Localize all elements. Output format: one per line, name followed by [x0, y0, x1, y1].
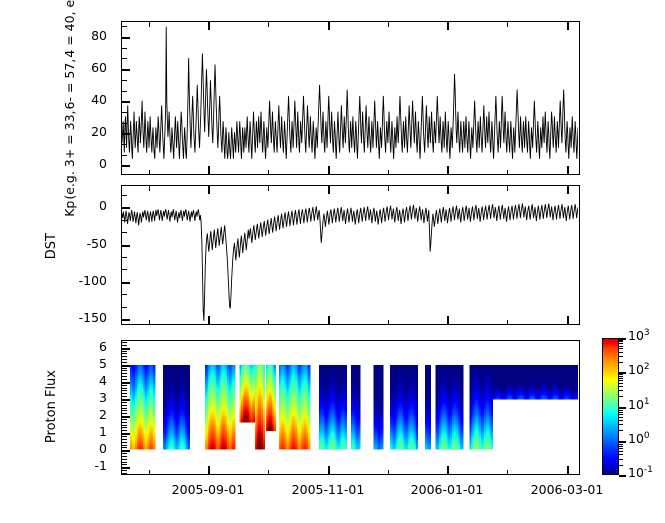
axis-tick: [567, 166, 569, 174]
axis-tick: [619, 380, 623, 381]
colorbar-tick-base: 10: [628, 465, 644, 480]
axis-tick: [619, 430, 623, 431]
axis-tick: [507, 22, 508, 27]
axis-tick: [268, 186, 269, 191]
axis-tick: [122, 362, 127, 363]
axis-tick: [619, 448, 623, 449]
axis-tick: [388, 186, 389, 191]
axis-tick: [208, 186, 210, 194]
axis-tick: [507, 170, 508, 175]
axis-tick: [122, 294, 127, 295]
axis-tick: [122, 307, 127, 308]
axis-tick: [122, 207, 130, 209]
axis-tick: [208, 166, 210, 174]
axis-tick: [122, 467, 130, 469]
axis-tick: [122, 365, 130, 367]
axis-tick: [619, 378, 623, 379]
axis-tick: [149, 22, 150, 27]
axis-tick: [619, 386, 623, 387]
axis-tick: [619, 362, 623, 363]
axis-tick: [447, 22, 449, 30]
axis-tick: [122, 419, 127, 420]
axis-tick: [122, 459, 127, 460]
axis-tick: [328, 466, 330, 474]
axis-tick: [388, 320, 389, 325]
colorbar-tick-exponent: 0: [644, 431, 650, 441]
axis-tick: [619, 446, 623, 447]
axis-tick: [122, 456, 127, 457]
colorbar-tick-base: 10: [628, 397, 644, 412]
colorbar-tick-base: 10: [628, 362, 644, 377]
colorbar: [602, 338, 619, 475]
axis-tick: [122, 376, 127, 377]
y-tick-label: 40: [0, 92, 107, 107]
axis-tick: [122, 453, 127, 454]
axis-tick: [619, 454, 623, 455]
axis-tick: [447, 166, 449, 174]
axis-tick: [122, 220, 127, 221]
axis-tick: [122, 450, 130, 452]
axis-tick: [122, 69, 130, 71]
axis-tick: [122, 379, 127, 380]
axis-tick: [507, 320, 508, 325]
y-tick-label: 6: [0, 339, 107, 354]
axis-tick: [122, 356, 127, 357]
colorbar-tick-base: 10: [628, 431, 644, 446]
axis-tick: [122, 427, 127, 428]
axis-tick: [122, 155, 127, 156]
y-tick-label: -1: [0, 458, 107, 473]
axis-tick: [619, 444, 623, 445]
axis-tick: [388, 22, 389, 27]
axis-tick: [619, 414, 623, 415]
axis-tick: [619, 356, 623, 357]
axis-tick: [208, 466, 210, 474]
axis-tick: [388, 470, 389, 475]
axis-tick: [122, 416, 130, 418]
axis-tick: [122, 133, 130, 135]
proton-flux-heatmap: [122, 341, 578, 473]
axis-tick: [447, 316, 449, 324]
axis-tick: [388, 170, 389, 175]
axis-tick: [507, 186, 508, 191]
y-tick-label: 1: [0, 424, 107, 439]
axis-tick: [619, 408, 623, 409]
axis-tick: [122, 353, 127, 354]
axis-tick: [122, 48, 127, 49]
colorbar-tick-exponent: 2: [644, 362, 650, 372]
axis-tick: [122, 382, 130, 384]
axis-tick: [507, 470, 508, 475]
axis-tick: [122, 319, 130, 321]
axis-tick: [619, 459, 623, 460]
figure-root: Kp (e.g. 3+ = 33, 6- = 57, 4 = 40, etc.)…: [0, 0, 665, 523]
axis-tick: [122, 413, 127, 414]
y-tick-label: 0: [0, 198, 107, 213]
axis-tick: [122, 370, 127, 371]
axis-tick: [567, 316, 569, 324]
axis-tick: [619, 383, 623, 384]
axis-tick: [122, 464, 127, 465]
y-tick-label: 5: [0, 356, 107, 371]
axis-tick: [122, 385, 127, 386]
axis-tick: [122, 359, 127, 360]
axis-tick: [268, 320, 269, 325]
colorbar-tick-exponent: 1: [644, 397, 650, 407]
axis-tick: [149, 320, 150, 325]
axis-tick: [149, 470, 150, 475]
axis-tick: [122, 257, 127, 258]
axis-tick: [208, 316, 210, 324]
y-tick-label: 0: [0, 441, 107, 456]
axis-tick: [619, 417, 623, 418]
kp-series-plot: [122, 22, 578, 173]
axis-tick: [122, 342, 127, 343]
colorbar-tick-label: 103: [628, 328, 650, 343]
axis-tick: [447, 466, 449, 474]
axis-tick: [328, 166, 330, 174]
colorbar-tick-label: 102: [628, 362, 650, 377]
axis-tick: [268, 470, 269, 475]
x-tick-label: 2006-03-01: [522, 482, 612, 497]
colorbar-tick-exponent: -1: [644, 465, 653, 475]
axis-tick: [122, 390, 127, 391]
colorbar-tick-base: 10: [628, 328, 644, 343]
y-tick-label: 2: [0, 407, 107, 422]
axis-tick: [619, 424, 623, 425]
axis-tick: [122, 410, 127, 411]
axis-tick: [122, 345, 127, 346]
y-tick-label: 60: [0, 60, 107, 75]
axis-tick: [122, 144, 127, 145]
colorbar-tick-label: 101: [628, 397, 650, 412]
dst-panel: [121, 185, 580, 325]
axis-tick: [122, 447, 127, 448]
proton-flux-panel: [121, 340, 580, 475]
y-tick-label: -150: [0, 310, 107, 325]
axis-tick: [268, 22, 269, 27]
axis-tick: [619, 390, 623, 391]
dst-series-plot: [122, 186, 578, 323]
y-tick-label: 80: [0, 28, 107, 43]
axis-tick: [567, 466, 569, 474]
kp-panel: [121, 21, 580, 175]
axis-tick: [122, 399, 130, 401]
axis-tick: [122, 123, 127, 124]
axis-tick: [122, 91, 127, 92]
axis-tick: [619, 346, 623, 347]
axis-tick: [122, 396, 127, 397]
axis-tick: [619, 451, 623, 452]
axis-tick: [122, 112, 127, 113]
axis-tick: [122, 442, 127, 443]
axis-tick: [619, 465, 623, 466]
axis-tick: [149, 186, 150, 191]
axis-tick: [122, 26, 127, 27]
axis-tick: [122, 393, 127, 394]
x-tick-label: 2006-01-01: [402, 482, 492, 497]
axis-tick: [447, 186, 449, 194]
colorbar-tick-label: 100: [628, 431, 650, 446]
y-tick-label: 0: [0, 156, 107, 171]
y-tick-label: 4: [0, 373, 107, 388]
axis-tick: [619, 352, 623, 353]
axis-tick: [619, 396, 623, 397]
axis-tick: [619, 343, 623, 344]
axis-tick: [122, 436, 127, 437]
axis-tick: [619, 442, 623, 443]
axis-tick: [122, 58, 127, 59]
y-tick-label: 3: [0, 390, 107, 405]
axis-tick: [122, 195, 127, 196]
y-tick-label: -50: [0, 236, 107, 251]
y-tick-label: 20: [0, 124, 107, 139]
x-tick-label: 2005-11-01: [283, 482, 373, 497]
axis-tick: [208, 22, 210, 30]
axis-tick: [122, 405, 127, 406]
axis-tick: [328, 316, 330, 324]
axis-tick: [122, 348, 130, 350]
axis-tick: [122, 430, 127, 431]
axis-tick: [619, 376, 623, 377]
axis-tick: [122, 232, 127, 233]
axis-tick: [122, 282, 130, 284]
axis-tick: [122, 402, 127, 403]
colorbar-tick-label: 10-1: [628, 465, 653, 480]
axis-tick: [567, 186, 569, 194]
axis-tick: [122, 439, 127, 440]
axis-tick: [619, 340, 623, 341]
axis-tick: [149, 170, 150, 175]
axis-tick: [619, 475, 626, 477]
axis-tick: [619, 410, 623, 411]
axis-tick: [122, 433, 130, 435]
axis-tick: [619, 420, 623, 421]
y-tick-label: -100: [0, 273, 107, 288]
axis-tick: [122, 470, 127, 471]
axis-tick: [619, 348, 623, 349]
axis-tick: [619, 374, 623, 375]
axis-tick: [122, 422, 127, 423]
axis-tick: [122, 473, 127, 474]
axis-tick: [567, 22, 569, 30]
axis-tick: [328, 22, 330, 30]
axis-tick: [619, 412, 623, 413]
axis-tick: [122, 37, 130, 39]
axis-tick: [328, 186, 330, 194]
axis-tick: [122, 165, 130, 167]
axis-tick: [122, 101, 130, 103]
axis-tick: [122, 269, 127, 270]
x-tick-label: 2005-09-01: [163, 482, 253, 497]
axis-tick: [122, 373, 127, 374]
axis-tick: [268, 170, 269, 175]
axis-tick: [122, 80, 127, 81]
axis-tick: [122, 245, 130, 247]
colorbar-tick-exponent: 3: [644, 328, 650, 338]
